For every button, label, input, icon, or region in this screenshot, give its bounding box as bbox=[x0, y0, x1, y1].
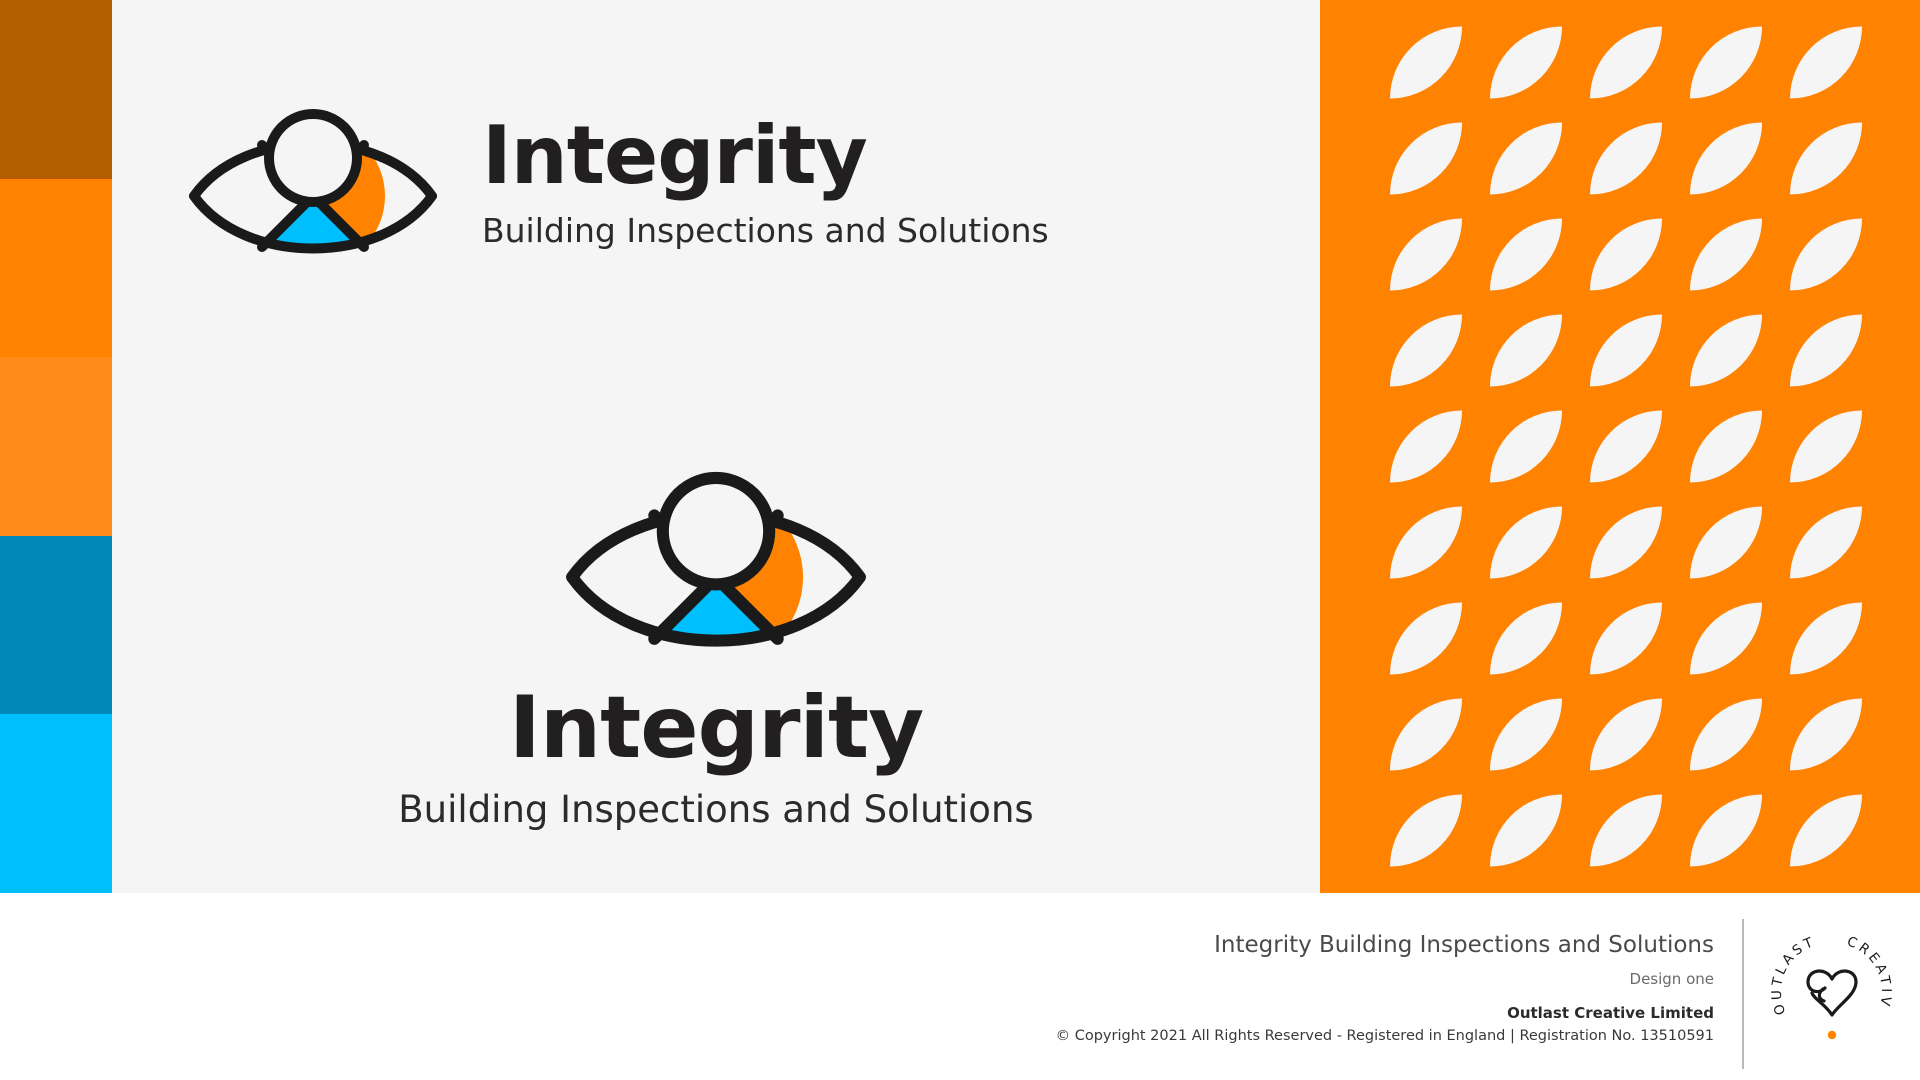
footer-copyright: © Copyright 2021 All Rights Reserved - R… bbox=[1056, 1028, 1714, 1045]
integrity-eye-mark-icon bbox=[182, 95, 444, 267]
tagline-stacked: Building Inspections and Solutions bbox=[398, 791, 1033, 828]
tagline-horizontal: Building Inspections and Solutions bbox=[482, 214, 1049, 247]
swatch-teal-blue bbox=[0, 536, 112, 715]
outlast-creative-badge-icon: OUTLAST CREATIVE bbox=[1768, 927, 1896, 1055]
brand-sheet-stage: Integrity Building Inspections and Solut… bbox=[0, 0, 1920, 893]
footer-studio-name: Outlast Creative Limited bbox=[1056, 1004, 1714, 1022]
logo-canvas: Integrity Building Inspections and Solut… bbox=[112, 0, 1320, 893]
footer-bar: Integrity Building Inspections and Solut… bbox=[0, 893, 1920, 1080]
integrity-eye-mark-icon bbox=[557, 455, 875, 663]
logo-lockup-horizontal: Integrity Building Inspections and Solut… bbox=[182, 95, 1049, 267]
leaf-pattern-svg bbox=[1320, 0, 1920, 893]
footer-divider bbox=[1742, 919, 1744, 1069]
logo-text-block-horizontal: Integrity Building Inspections and Solut… bbox=[482, 116, 1049, 247]
swatch-orange bbox=[0, 179, 112, 358]
footer-design-label: Design one bbox=[1056, 970, 1714, 988]
oc-heart-monogram-icon bbox=[1808, 971, 1856, 1015]
swatch-dark-orange bbox=[0, 0, 112, 179]
logo-lockup-stacked: Integrity Building Inspections and Solut… bbox=[112, 455, 1320, 828]
footer-content: Integrity Building Inspections and Solut… bbox=[1056, 919, 1896, 1069]
swatch-cyan bbox=[0, 714, 112, 893]
footer-project-title: Integrity Building Inspections and Solut… bbox=[1056, 931, 1714, 960]
badge-accent-dot bbox=[1828, 1031, 1836, 1039]
wordmark-stacked: Integrity bbox=[509, 685, 923, 771]
footer-text-block: Integrity Building Inspections and Solut… bbox=[1056, 919, 1742, 1045]
leaf-pattern-panel bbox=[1320, 0, 1920, 893]
swatch-light-orange bbox=[0, 357, 112, 536]
palette-swatch-column bbox=[0, 0, 112, 893]
wordmark-horizontal: Integrity bbox=[482, 116, 1049, 196]
